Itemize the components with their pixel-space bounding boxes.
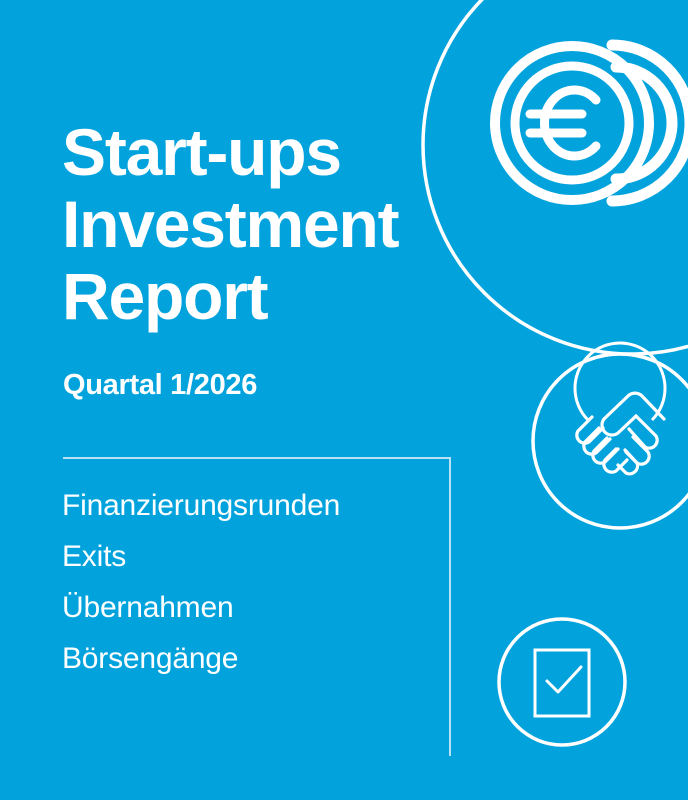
report-cover: Start-ups Investment Report Quartal 1/20…: [0, 0, 688, 800]
topic-list: Finanzierungsrunden Exits Übernahmen Bör…: [62, 480, 340, 684]
title-line-1: Start-ups: [62, 116, 482, 188]
divider-horizontal: [63, 457, 451, 459]
list-item: Exits: [62, 531, 340, 582]
report-period-subtitle: Quartal 1/2026: [63, 368, 257, 402]
list-item: Finanzierungsrunden: [62, 480, 340, 531]
list-item: Übernahmen: [62, 582, 340, 633]
divider-vertical: [449, 457, 451, 756]
page-title: Start-ups Investment Report: [62, 116, 482, 332]
title-line-2: Investment: [62, 188, 482, 260]
title-line-3: Report: [62, 260, 482, 332]
list-item: Börsengänge: [62, 633, 340, 684]
